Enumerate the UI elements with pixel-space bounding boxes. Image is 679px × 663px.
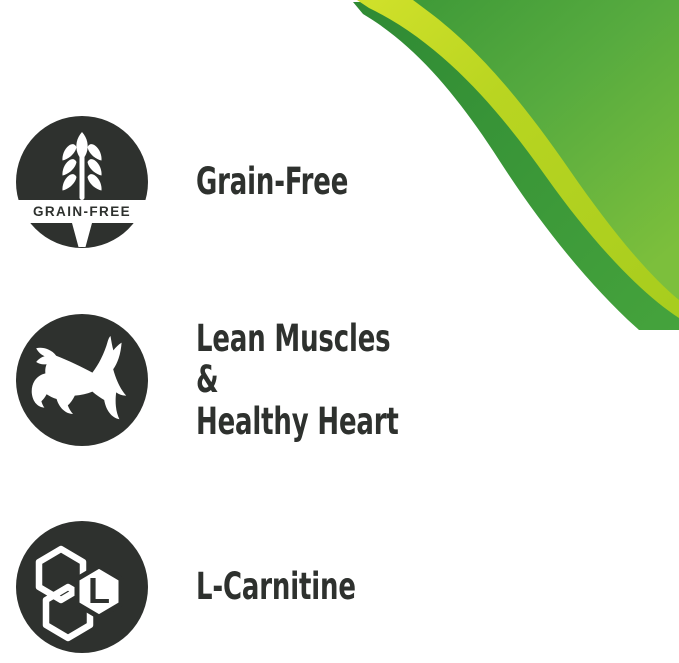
leaping-dog-badge-icon [16,314,148,446]
benefit-label-lean-muscles-healthy-heart: Lean Muscles & Healthy Heart [196,318,410,442]
hexagon-molecule-l-badge-icon: L [16,521,148,653]
benefit-row-l-carnitine: L L-Carnitine [0,521,470,653]
badge-caption: GRAIN-FREE [33,204,131,219]
benefit-row-lean-muscles-healthy-heart: Lean Muscles & Healthy Heart [0,314,470,446]
benefit-label-l-carnitine: L-Carnitine [196,566,356,607]
feature-benefits-panel: GRAIN-FREE Grain-Free Lean Muscles & Hea… [0,0,679,663]
hexagon-letter-l: L [88,570,110,611]
wheat-stalk-grain-free-badge-icon: GRAIN-FREE [16,116,148,248]
benefit-label-grain-free: Grain-Free [196,161,348,202]
benefit-row-grain-free: GRAIN-FREE Grain-Free [0,116,470,248]
